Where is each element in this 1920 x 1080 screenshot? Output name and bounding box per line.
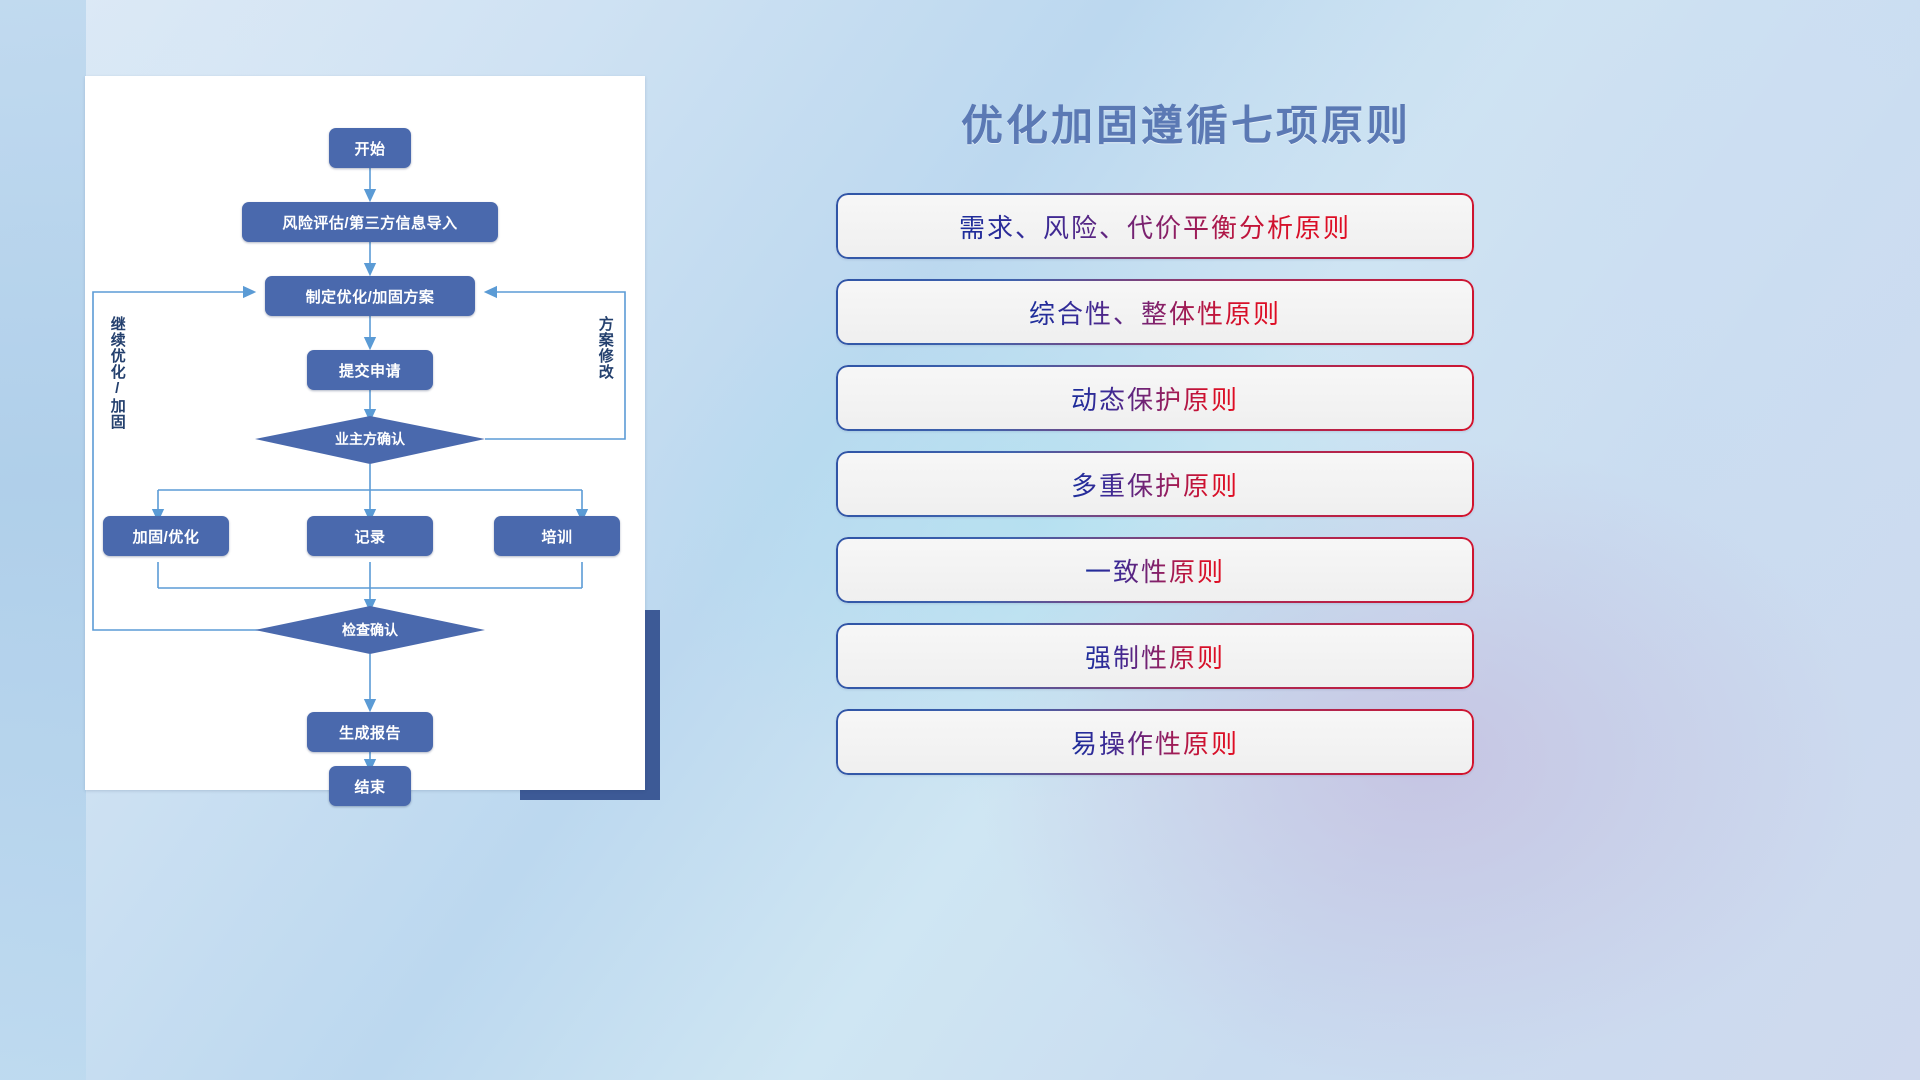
node-record[interactable]: 记录 [307, 516, 433, 556]
node-reinforce[interactable]: 加固/优化 [103, 516, 229, 556]
principle-card-label: 强制性原则 [1085, 638, 1225, 675]
principle-card[interactable]: 一致性原则 [836, 537, 1474, 603]
principle-card-label: 动态保护原则 [1071, 380, 1239, 417]
principle-card[interactable]: 综合性、整体性原则 [836, 279, 1474, 345]
node-generate-report-label: 生成报告 [339, 722, 401, 743]
node-end-label: 结束 [354, 776, 385, 797]
principle-card-label: 一致性原则 [1085, 552, 1225, 589]
principle-card-label: 综合性、整体性原则 [1029, 294, 1281, 331]
decision-check-confirm-shape [255, 606, 485, 654]
decision-owner-confirm-shape [255, 416, 485, 464]
edge-label-left-loop: 继续优化/加固 [109, 316, 125, 456]
node-submit-application[interactable]: 提交申请 [307, 350, 433, 390]
principle-card-label: 需求、风险、代价平衡分析原则 [959, 208, 1351, 245]
edge-label-right-loop: 方案修改 [597, 316, 613, 426]
principles-list: 需求、风险、代价平衡分析原则 综合性、整体性原则 动态保护原则 多重保护原则 一… [836, 193, 1474, 795]
page-title: 优化加固遵循七项原则 [836, 92, 1536, 153]
node-end[interactable]: 结束 [329, 766, 411, 806]
node-reinforce-label: 加固/优化 [133, 526, 200, 547]
principle-card-label: 多重保护原则 [1071, 466, 1239, 503]
node-risk-assessment-label: 风险评估/第三方信息导入 [282, 212, 457, 233]
flowchart-card: 开始 风险评估/第三方信息导入 制定优化/加固方案 提交申请 业主方确认 加固/… [85, 76, 645, 790]
node-start-label: 开始 [354, 138, 385, 159]
principle-card[interactable]: 易操作性原则 [836, 709, 1474, 775]
node-submit-application-label: 提交申请 [339, 360, 401, 381]
principle-card-label: 易操作性原则 [1071, 724, 1239, 761]
node-make-plan[interactable]: 制定优化/加固方案 [265, 276, 475, 316]
principle-card[interactable]: 多重保护原则 [836, 451, 1474, 517]
principle-card[interactable]: 强制性原则 [836, 623, 1474, 689]
node-risk-assessment[interactable]: 风险评估/第三方信息导入 [242, 202, 498, 242]
principle-card[interactable]: 动态保护原则 [836, 365, 1474, 431]
principle-card[interactable]: 需求、风险、代价平衡分析原则 [836, 193, 1474, 259]
node-generate-report[interactable]: 生成报告 [307, 712, 433, 752]
principles-panel: 优化加固遵循七项原则 需求、风险、代价平衡分析原则 综合性、整体性原则 动态保护… [836, 0, 1876, 1080]
flowchart-panel: 开始 风险评估/第三方信息导入 制定优化/加固方案 提交申请 业主方确认 加固/… [85, 76, 645, 790]
node-make-plan-label: 制定优化/加固方案 [306, 286, 435, 307]
node-training[interactable]: 培训 [494, 516, 620, 556]
flowchart-connectors [85, 76, 645, 790]
slide-canvas: 开始 风险评估/第三方信息导入 制定优化/加固方案 提交申请 业主方确认 加固/… [0, 0, 1920, 1080]
node-start[interactable]: 开始 [329, 128, 411, 168]
node-record-label: 记录 [354, 526, 385, 547]
node-training-label: 培训 [541, 526, 572, 547]
